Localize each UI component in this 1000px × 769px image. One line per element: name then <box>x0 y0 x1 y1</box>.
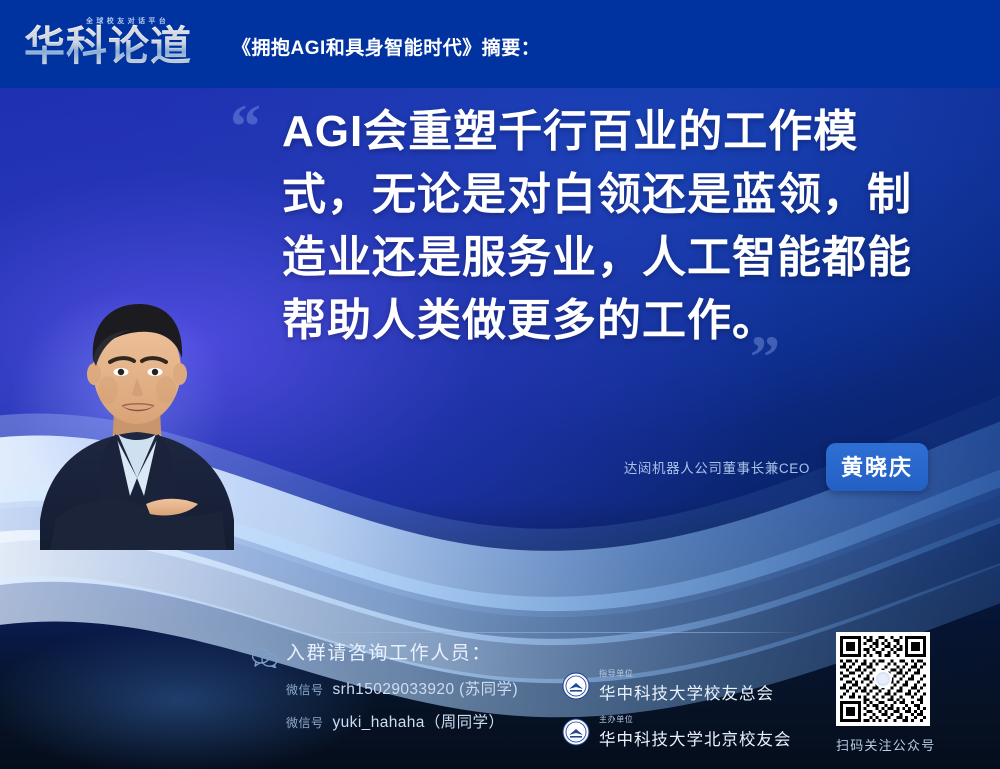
organizer-name: 华中科技大学校友总会 <box>599 680 774 704</box>
organizer-kicker: 主办单位 <box>599 714 792 725</box>
organizer-row: 主办单位 华中科技大学北京校友会 <box>562 714 792 750</box>
poster-canvas: 全球校友对话平台 华科论道 《拥抱AGI和具身智能时代》摘要： “ AGI会重塑… <box>0 0 1000 769</box>
quote-line: 式，无论是对白领还是蓝领，制 <box>282 163 948 226</box>
quote-text: AGI会重塑千行百业的工作模 式，无论是对白领还是蓝领，制 造业还是服务业，人工… <box>282 100 948 352</box>
contact-row: 微信号 srh15029033920 (苏同学) <box>286 677 518 699</box>
organizer-list: 指导单位 华中科技大学校友总会 主办单位 华中科技大学北京校友会 <box>562 668 792 760</box>
brand-logo: 全球校友对话平台 华科论道 <box>24 16 210 72</box>
wechat-icon <box>252 648 278 668</box>
contact-row: 微信号 yuki_hahaha（周同学） <box>286 710 518 732</box>
contact-title: 入群请咨询工作人员： <box>286 638 518 665</box>
attribution: 达闼机器人公司董事长兼CEO 黄晓庆 <box>624 443 928 491</box>
organizer-texts: 主办单位 华中科技大学北京校友会 <box>599 714 792 750</box>
quote-line: 帮助人类做更多的工作。 <box>282 289 948 352</box>
contact-block: 入群请咨询工作人员： 微信号 srh15029033920 (苏同学) 微信号 … <box>286 638 518 743</box>
quote-line: 造业还是服务业，人工智能都能 <box>282 226 948 289</box>
qr-center-logo <box>874 670 892 688</box>
organizer-row: 指导单位 华中科技大学校友总会 <box>562 668 792 704</box>
quote-line: AGI会重塑千行百业的工作模 <box>282 100 948 163</box>
quote-close-mark: ” <box>750 332 780 382</box>
footer-divider <box>282 632 798 633</box>
organizer-texts: 指导单位 华中科技大学校友总会 <box>599 668 774 704</box>
contact-label: 微信号 <box>286 714 324 731</box>
header-title: 《拥抱AGI和具身智能时代》摘要： <box>232 29 540 60</box>
contact-value[interactable]: srh15029033920 (苏同学) <box>333 677 519 699</box>
contact-value[interactable]: yuki_hahaha（周同学） <box>333 710 505 732</box>
organizer-kicker: 指导单位 <box>599 668 774 679</box>
contact-label: 微信号 <box>286 681 324 698</box>
quote-open-mark: “ <box>230 100 261 154</box>
qr-caption: 扫码关注公众号 <box>836 735 935 754</box>
speaker-name-badge: 黄晓庆 <box>826 443 928 491</box>
header-bar: 全球校友对话平台 华科论道 《拥抱AGI和具身智能时代》摘要： <box>0 0 1000 88</box>
brand-title: 华科论道 <box>24 23 192 69</box>
speaker-role: 达闼机器人公司董事长兼CEO <box>624 457 810 477</box>
hust-emblem-icon <box>562 718 590 746</box>
qr-code[interactable] <box>836 632 930 726</box>
hust-emblem-icon <box>562 672 590 700</box>
quote-block: “ AGI会重塑千行百业的工作模 式，无论是对白领还是蓝领，制 造业还是服务业，… <box>228 100 948 352</box>
qr-block: 扫码关注公众号 <box>836 632 935 754</box>
speaker-portrait <box>26 282 248 550</box>
organizer-name: 华中科技大学北京校友会 <box>599 726 792 750</box>
